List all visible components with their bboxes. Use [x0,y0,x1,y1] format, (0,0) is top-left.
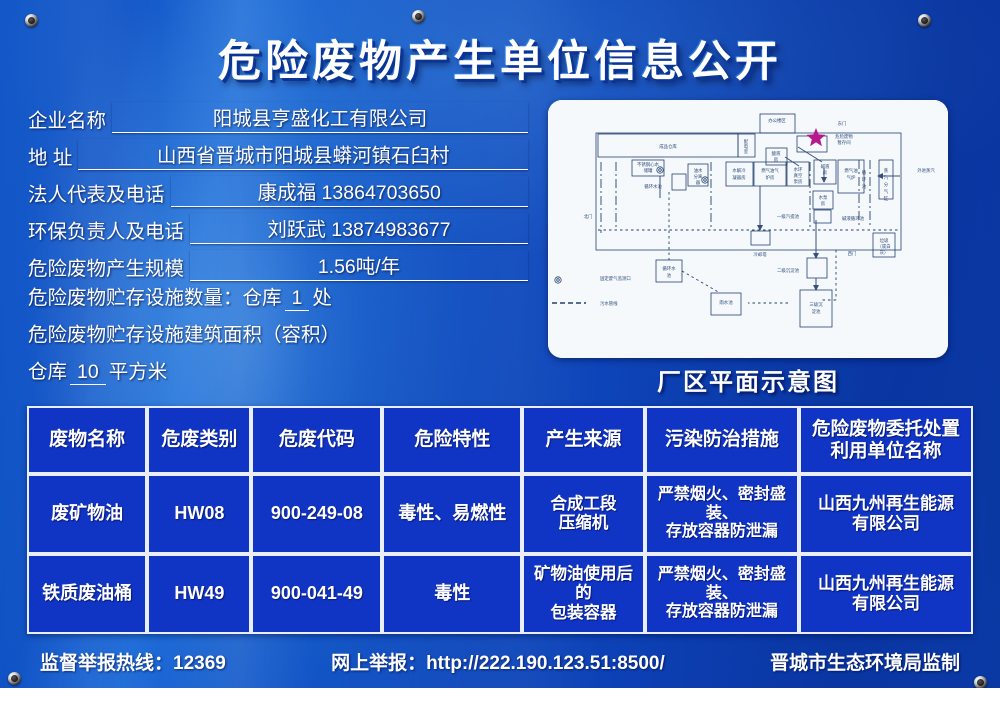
bolt-top-center [412,10,425,23]
cell-source-line2: 压缩机 [526,514,640,533]
info-row-env-officer: 环保负责人及电话 刘跃武 13874983677 [28,207,528,244]
cell-hazard-property: 毒性、易燃性 [382,474,522,554]
bolt-top-right [918,14,931,27]
footer-online-report: 网上举报：http://222.190.123.51:8500/ [331,648,665,675]
header-hazard-property: 危险特性 [382,406,522,474]
svg-text:办公楼区: 办公楼区 [768,117,786,124]
svg-text:分: 分 [884,181,889,188]
svg-text:酸液: 酸液 [772,150,781,157]
info-row-company-name: 企业名称 阳城县亨盛化工有限公司 [28,96,528,133]
svg-text:蒸: 蒸 [884,167,889,174]
cell-disposal-line1: 山西九州再生能源 [803,574,969,594]
site-plan-caption: 厂区平面示意图 [548,362,948,397]
svg-text:北门: 北门 [584,213,593,220]
svg-text:外进蒸汽: 外进蒸汽 [917,167,935,174]
value-env-officer: 刘跃武 13874983677 [190,213,528,244]
cell-waste-category: HW49 [147,554,251,634]
cell-hazard-property: 毒性 [382,554,522,634]
svg-text:房: 房 [774,156,779,163]
svg-text:油水: 油水 [694,167,703,174]
svg-text:二级沉淀池: 二级沉淀池 [777,267,800,274]
header-source: 产生来源 [522,406,644,474]
info-row-generation-scale: 危险废物产生规模 1.56吨/年 [28,244,528,281]
label-company-name: 企业名称 [28,104,106,133]
header-waste-name: 废物名称 [27,406,147,474]
svg-text:东门: 东门 [838,120,847,127]
svg-text:危险废物: 危险废物 [835,133,853,140]
label-warehouse: 仓库 [28,361,67,383]
svg-text:泵房: 泵房 [794,178,803,185]
svg-text:一级汽提池: 一级汽提池 [777,213,800,220]
value-generation-scale: 1.56吨/年 [190,250,528,281]
svg-text:循: 循 [862,169,867,176]
label-storage-count: 危险废物贮存设施数量：仓库 [28,287,282,309]
svg-text:雨水池: 雨水池 [719,299,733,306]
svg-text:房: 房 [821,200,826,207]
page-title: 危险废物产生单位信息公开 [0,27,1000,89]
svg-text:固定废气监测口: 固定废气监测口 [600,275,631,282]
table-row: 铁质废油桶 HW49 900-041-49 毒性 矿物油使用后的 包装容器 严禁… [27,554,973,634]
bottom-white-strip [0,688,1000,703]
company-info-block: 企业名称 阳城县亨盛化工有限公司 地 址 山西省晋城市阳城县蟒河镇石臼村 法人代… [28,96,528,392]
cell-control-line1: 严禁烟火、密封盛装、 [649,486,796,524]
cell-source: 矿物油使用后的 包装容器 [522,554,644,634]
svg-text:电: 电 [744,143,749,150]
svg-text:冷却塔: 冷却塔 [753,251,767,258]
svg-text:循环水池: 循环水池 [644,183,662,190]
label-generation-scale: 危险废物产生规模 [28,252,184,281]
cell-source-line1: 矿物油使用后的 [526,565,640,604]
label-address: 地 址 [28,141,72,170]
svg-text:分离: 分离 [694,173,703,180]
svg-text:淀池: 淀池 [812,308,821,315]
svg-text:碱液: 碱液 [821,163,830,170]
cell-control-measure: 严禁烟火、密封盛装、 存放容器防泄漏 [645,554,800,634]
svg-text:池: 池 [862,183,867,190]
cell-source-line2: 包装容器 [526,604,640,623]
value-company-name: 阳城县亨盛化工有限公司 [112,102,528,133]
header-disposal-unit-line2: 利用单位名称 [803,440,969,462]
info-row-legal-rep: 法人代表及电话 康成福 13864703650 [28,170,528,207]
svg-text:水环: 水环 [794,166,803,173]
header-waste-code: 危废代码 [251,406,382,474]
svg-text:碱液循环池: 碱液循环池 [842,215,865,222]
table-row: 废矿物油 HW08 900-249-08 毒性、易燃性 合成工段 压缩机 严禁烟… [27,474,973,554]
info-row-address: 地 址 山西省晋城市阳城县蟒河镇石臼村 [28,133,528,170]
svg-text:水解冷: 水解冷 [732,167,746,174]
svg-text:气炉: 气炉 [847,174,856,181]
hazardous-waste-table: 废物名称 危废类别 危废代码 危险特性 产生来源 污染防治措施 危险废物委托处置… [27,406,973,634]
cell-waste-category: HW08 [147,474,251,554]
svg-text:室: 室 [744,148,749,155]
cell-source-line1: 合成工段 [526,495,640,514]
svg-text:真空: 真空 [794,172,803,179]
cell-control-line2: 存放容器防泄漏 [649,603,796,622]
svg-text:燃气油气: 燃气油气 [761,167,779,174]
svg-text:房: 房 [823,169,828,176]
cell-waste-name: 废矿物油 [27,474,147,554]
bolt-top-left [25,14,38,27]
cell-disposal-line1: 山西九州再生能源 [803,494,969,514]
svg-text:灰）: 灰） [880,249,889,256]
svg-text:水泵: 水泵 [819,194,828,201]
suffix-storage-count: 处 [312,287,332,309]
svg-text:器: 器 [696,180,701,186]
label-env-officer: 环保负责人及电话 [28,215,184,244]
table-header: 废物名称 危废类别 危废代码 危险特性 产生来源 污染防治措施 危险废物委托处置… [27,406,973,474]
value-address: 山西省晋城市阳城县蟒河镇石臼村 [78,139,528,170]
cell-disposal-unit: 山西九州再生能源 有限公司 [799,554,973,634]
svg-text:（或白: （或白 [877,243,890,250]
svg-text:暂存间: 暂存间 [837,139,850,146]
cell-control-measure: 严禁烟火、密封盛装、 存放容器防泄漏 [645,474,800,554]
svg-text:燃气油: 燃气油 [844,167,858,174]
bolt-bottom-right [974,676,987,688]
value-storage-count: 1 [285,287,310,311]
label-storage-area: 危险废物贮存设施建筑面积（容积） [28,324,340,346]
value-storage-area: 10 [70,361,106,385]
svg-text:污水管线: 污水管线 [600,300,618,307]
information-board: 危险废物产生单位信息公开 企业名称 阳城县亨盛化工有限公司 地 址 山西省晋城市… [0,0,1000,688]
svg-text:气: 气 [884,188,889,195]
info-row-storage-area-value: 仓库10平方米 [28,355,528,392]
cell-waste-code: 900-249-08 [251,474,382,554]
cell-disposal-line2: 有限公司 [803,594,969,614]
label-legal-rep: 法人代表及电话 [28,178,165,207]
svg-text:三级沉: 三级沉 [809,301,823,308]
table-body: 废矿物油 HW08 900-249-08 毒性、易燃性 合成工段 压缩机 严禁烟… [27,474,973,634]
cell-source: 合成工段 压缩机 [522,474,644,554]
header-control-measure: 污染防治措施 [645,406,800,474]
info-row-storage-count: 危险废物贮存设施数量：仓库1处 [28,281,528,318]
suffix-storage-area: 平方米 [109,361,168,383]
svg-text:池: 池 [667,272,672,279]
cell-disposal-line2: 有限公司 [803,514,969,534]
svg-text:环: 环 [862,177,867,183]
cell-control-line2: 存放容器防泄漏 [649,523,796,542]
header-waste-category: 危废类别 [147,406,251,474]
cell-waste-name: 铁质废油桶 [27,554,147,634]
footer-authority: 晋城市生态环境局监制 [770,648,960,675]
cell-control-line1: 严禁烟火、密封盛装、 [649,566,796,604]
svg-text:缸: 缸 [884,195,889,202]
cell-disposal-unit: 山西九州再生能源 有限公司 [799,474,973,554]
svg-text:不锈钢心水: 不锈钢心水 [637,161,660,168]
table-header-row: 废物名称 危废类别 危废代码 危险特性 产生来源 污染防治措施 危险废物委托处置… [27,406,973,474]
value-legal-rep: 康成福 13864703650 [171,176,528,207]
site-plan-image: 成品仓库 配电室 办公楼区 危险废物暂存间 东门 不锈钢心水储罐 油水分离器 水… [548,100,948,358]
footer-bar: 监督举报热线：12369 网上举报：http://222.190.123.51:… [40,648,960,675]
header-disposal-unit: 危险废物委托处置 利用单位名称 [799,406,973,474]
svg-text:垃圾: 垃圾 [880,237,889,244]
cell-waste-code: 900-041-49 [251,554,382,634]
svg-text:储罐: 储罐 [644,167,653,174]
svg-text:循环水: 循环水 [662,265,676,272]
svg-text:成品仓库: 成品仓库 [659,143,677,150]
svg-text:汽: 汽 [884,174,889,181]
header-disposal-unit-line1: 危险废物委托处置 [803,418,969,440]
svg-text:炉房: 炉房 [766,174,775,181]
svg-text:凝器房: 凝器房 [732,174,746,181]
bolt-bottom-left [8,672,21,685]
svg-text:西门: 西门 [848,250,857,257]
info-row-storage-area-label: 危险废物贮存设施建筑面积（容积） [28,318,528,355]
footer-hotline: 监督举报热线：12369 [40,648,226,675]
